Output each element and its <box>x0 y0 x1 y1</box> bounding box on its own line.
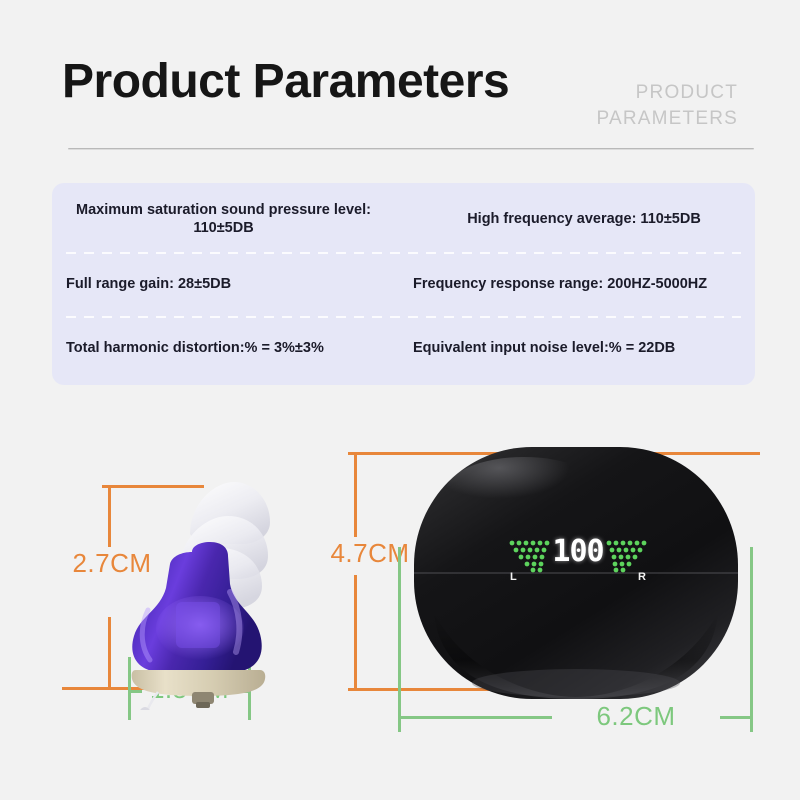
spec-row: Full range gain: 28±5DB Frequency respon… <box>52 252 755 317</box>
spec-max-saturation-sound-pressure: Maximum saturation sound pressure level:… <box>52 201 407 238</box>
product-images-section: 2.7CM 1.5CM <box>0 400 800 800</box>
hearing-aid-figure: 2.7CM 1.5CM <box>40 440 310 770</box>
case-led-display: 100 L R <box>508 535 648 595</box>
hearing-aid-height-line-upper <box>108 485 111 547</box>
spec-total-harmonic-distortion: Total harmonic distortion:% = 3%±3% <box>52 339 407 358</box>
case-height-label: 4.7CM <box>314 538 426 569</box>
header-divider <box>68 148 754 150</box>
spec-frequency-response-range: Frequency response range: 200HZ-5000HZ <box>407 275 755 294</box>
battery-wing-left-icon <box>508 539 552 573</box>
page-subtitle: PRODUCT PARAMETERS <box>596 80 738 131</box>
page-title: Product Parameters <box>62 58 509 106</box>
spec-full-range-gain: Full range gain: 28±5DB <box>52 275 407 294</box>
charging-case-figure: 4.7CM 6.2CM <box>330 420 780 780</box>
case-width-line-right <box>750 547 753 732</box>
case-width-line-left <box>398 547 401 732</box>
specifications-panel: Maximum saturation sound pressure level:… <box>52 183 755 385</box>
case-height-line-lower <box>354 575 357 691</box>
right-earbud-label: R <box>638 571 646 583</box>
subtitle-line-2: PARAMETERS <box>596 106 738 132</box>
product-parameters-page: Product Parameters PRODUCT PARAMETERS Ma… <box>0 0 800 800</box>
spec-high-frequency-average: High frequency average: 110±5DB <box>407 210 755 229</box>
case-width-rule-right <box>720 716 753 719</box>
battery-wing-right-icon <box>604 539 648 573</box>
left-earbud-label: L <box>510 571 517 583</box>
battery-percentage-value: 100 <box>552 537 603 567</box>
spec-row: Total harmonic distortion:% = 3%±3% Equi… <box>52 316 755 381</box>
case-height-line-upper <box>354 452 357 537</box>
spec-row: Maximum saturation sound pressure level:… <box>52 187 755 252</box>
case-width-rule-left <box>398 716 552 719</box>
page-header: Product Parameters PRODUCT PARAMETERS <box>0 0 800 160</box>
subtitle-line-1: PRODUCT <box>596 80 738 106</box>
hearing-aid-height-line-lower <box>108 617 111 690</box>
spec-equivalent-input-noise-level: Equivalent input noise level:% = 22DB <box>407 339 755 358</box>
hearing-aid-image <box>118 460 278 710</box>
